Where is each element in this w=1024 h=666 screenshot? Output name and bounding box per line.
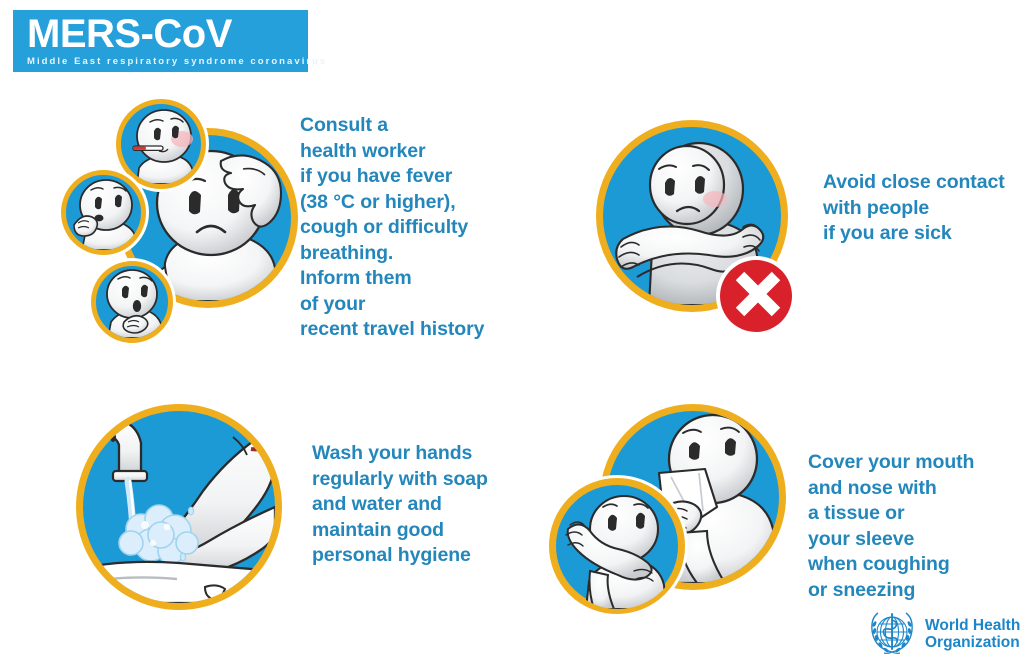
thermometer-person-artwork bbox=[121, 104, 201, 184]
caption-wash-your-hands: Wash your hands regularly with soap and … bbox=[312, 441, 522, 569]
title-banner: MERS-CoV Middle East respiratory syndrom… bbox=[13, 10, 308, 72]
red-x-prohibition-badge bbox=[720, 260, 792, 332]
close-icon bbox=[720, 260, 792, 332]
sub-illustration-person-coughing-into-elbow bbox=[549, 478, 685, 614]
who-logo: World Health Organization bbox=[866, 608, 1020, 660]
page-subtitle: Middle East respiratory syndrome coronav… bbox=[27, 56, 298, 68]
elbow-cough-artwork bbox=[556, 485, 680, 609]
sub-illustration-person-coughing-into-hand bbox=[61, 170, 146, 255]
sub-illustration-person-with-difficulty-breathing bbox=[91, 261, 173, 343]
illustration-hands-washing-under-tap bbox=[76, 404, 282, 610]
caption-avoid-close-contact: Avoid close contact with people if you a… bbox=[823, 170, 1023, 247]
caption-consult-health-worker: Consult a health worker if you have feve… bbox=[300, 113, 515, 343]
handwashing-artwork bbox=[83, 411, 275, 603]
breathing-difficulty-artwork bbox=[96, 266, 168, 338]
page-title: MERS-CoV bbox=[27, 12, 298, 56]
coughing-person-artwork bbox=[66, 175, 141, 250]
who-logo-text: World Health Organization bbox=[925, 617, 1020, 652]
caption-cover-mouth-and-nose: Cover your mouth and nose with a tissue … bbox=[808, 450, 1013, 603]
who-emblem-icon bbox=[866, 608, 918, 660]
infographic-poster: MERS-CoV Middle East respiratory syndrom… bbox=[0, 0, 1024, 666]
